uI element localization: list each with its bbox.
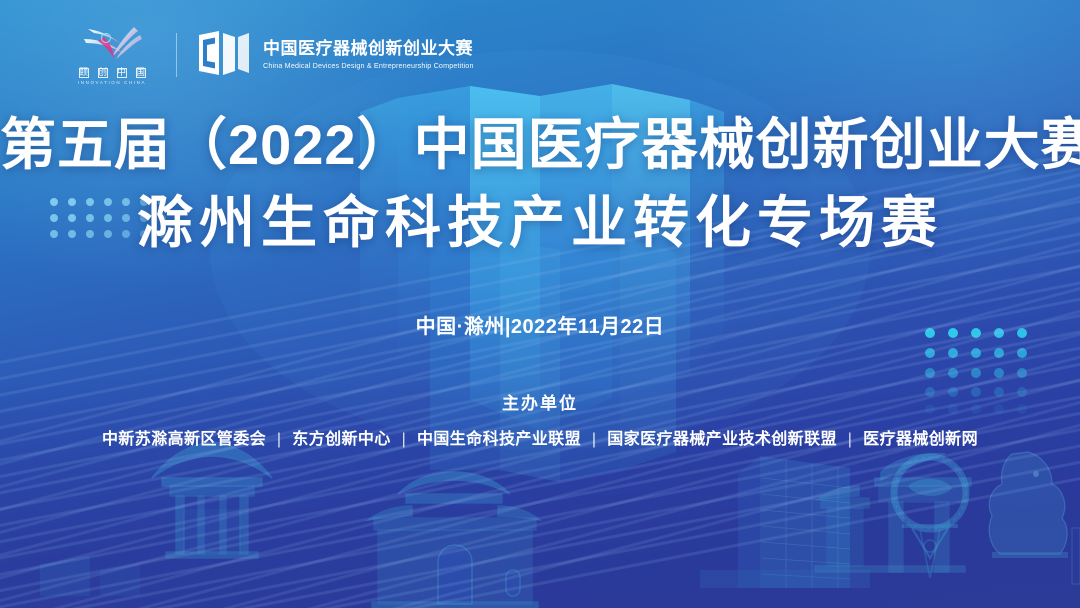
- host-separator-3: |: [842, 431, 859, 448]
- phoenix-bird-icon: [80, 25, 144, 66]
- host-item-3: 国家医疗器械产业技术创新联盟: [607, 431, 837, 448]
- host-item-0: 中新苏滁高新区管委会: [102, 431, 266, 448]
- host-item-4: 医疗器械创新网: [863, 431, 978, 448]
- host-separator-1: |: [396, 431, 413, 448]
- main-title-line-2: 滁州生命科技产业转化专场赛: [0, 190, 1080, 256]
- logo-char-2: 中: [117, 68, 127, 78]
- host-separator-0: |: [271, 431, 288, 448]
- host-separator-2: |: [586, 431, 603, 448]
- logo-char-1: 创: [98, 68, 108, 78]
- host-organizations: 中新苏滁高新区管委会 | 东方创新中心 | 中国生命科技产业联盟 | 国家医疗器…: [0, 425, 1080, 449]
- host-heading: 主办单位: [0, 389, 1080, 414]
- innovation-china-logo: 颐 创 中 国 INNOVATION CHINA: [62, 25, 162, 85]
- title-block: 第五届（2022）中国医疗器械创新创业大赛 滁州生命科技产业转化专场赛: [0, 112, 1080, 256]
- gate-graphic: [0, 0, 1080, 608]
- logo-char-3: 国: [136, 68, 146, 78]
- host-item-2: 中国生命科技产业联盟: [417, 431, 581, 448]
- event-poster: 颐 创 中 国 INNOVATION CHINA 中国医疗器械创新创业大赛: [0, 0, 1080, 608]
- cmdc-logo: 中国医疗器械创新创业大赛 China Medical Devices Desig…: [197, 29, 474, 82]
- innovation-china-english: INNOVATION CHINA: [78, 80, 146, 85]
- location-date: 中国·滁州|2022年11月22日: [0, 310, 1080, 339]
- main-title-line-1: 第五届（2022）中国医疗器械创新创业大赛: [0, 112, 1080, 178]
- logo-char-0: 颐: [79, 68, 89, 78]
- logo-divider: [176, 33, 177, 77]
- innovation-china-characters: 颐 创 中 国: [79, 68, 146, 78]
- open-door-mark-icon: [197, 29, 251, 82]
- logo-bar: 颐 创 中 国 INNOVATION CHINA 中国医疗器械创新创业大赛: [62, 22, 474, 88]
- cmdc-logo-english: China Medical Devices Design & Entrepren…: [263, 61, 474, 72]
- cmdc-logo-chinese: 中国医疗器械创新创业大赛: [263, 39, 474, 59]
- host-item-1: 东方创新中心: [292, 431, 390, 448]
